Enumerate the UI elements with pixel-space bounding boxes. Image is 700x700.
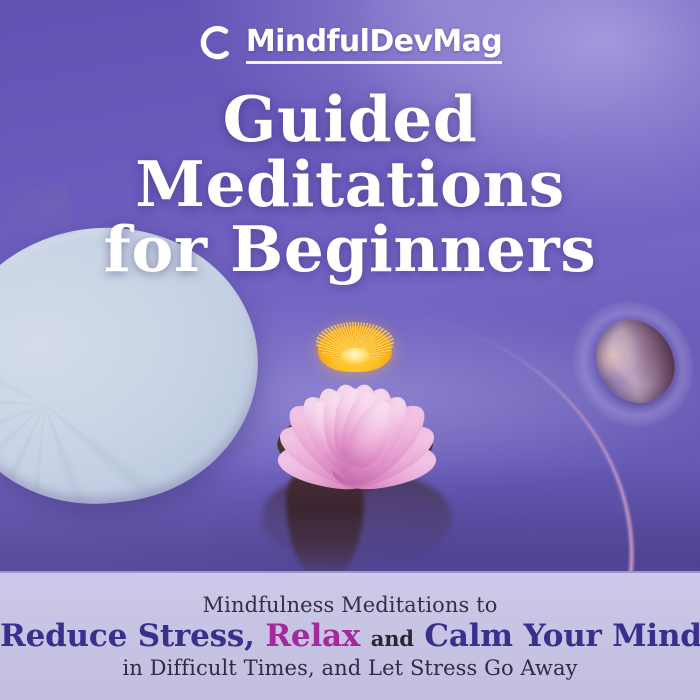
- brand-lockup[interactable]: MindfulDevMag: [0, 0, 700, 67]
- title-line-2: for Beginners: [0, 217, 700, 282]
- subtitle-bottom-line: in Difficult Times, and Let Stress Go Aw…: [0, 656, 700, 680]
- subtitle-calm-your-mind: Calm Your Mind: [424, 618, 700, 654]
- lotus-flower: [232, 296, 478, 496]
- subtitle-top-line: Mindfulness Meditations to: [0, 593, 700, 617]
- subtitle-relax: Relax: [265, 618, 360, 654]
- subtitle-panel: Mindfulness Meditations to Reduce Stress…: [0, 571, 700, 700]
- subtitle-conjunction: and: [371, 626, 414, 651]
- enso-circle-icon: [198, 24, 236, 67]
- subtitle-reduce-stress: Reduce Stress,: [0, 618, 255, 654]
- title-line-1: Guided Meditations: [135, 82, 565, 221]
- poster-title: Guided Meditations for Beginners: [0, 87, 700, 282]
- lotus-stamen-core: [340, 348, 370, 364]
- poster-header: MindfulDevMag Guided Meditations for Beg…: [0, 0, 700, 282]
- poster-canvas: MindfulDevMag Guided Meditations for Beg…: [0, 0, 700, 700]
- brand-name: MindfulDevMag: [246, 27, 502, 64]
- subtitle-main-line: Reduce Stress, Relax and Calm Your Mind: [0, 619, 700, 654]
